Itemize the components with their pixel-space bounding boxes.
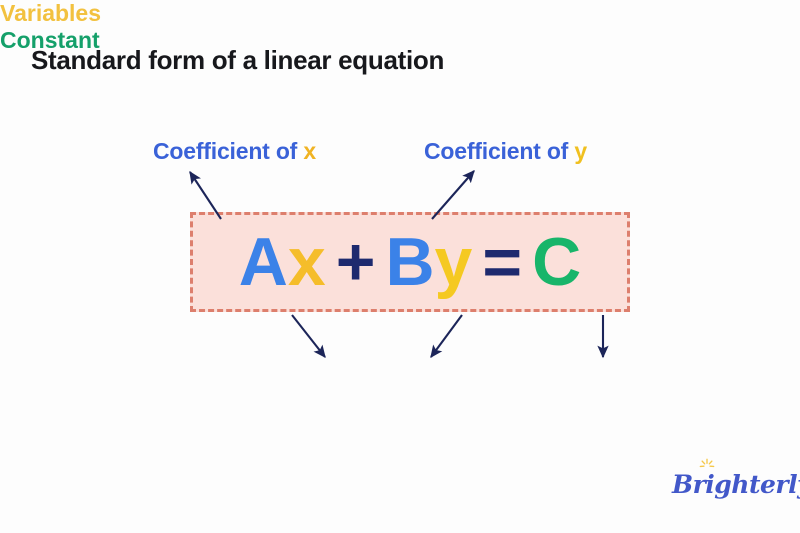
page-title: Standard form of a linear equation xyxy=(31,45,444,76)
equation-term-C: C xyxy=(532,228,581,296)
coefficient-of-y-label: Coefficient of y xyxy=(424,138,587,165)
equation-term-y: y xyxy=(435,228,473,296)
coefficient-of-x-prefix: Coefficient of xyxy=(153,138,297,164)
brighterly-logo: Brighterly xyxy=(672,458,784,506)
equation-term-A: A xyxy=(239,228,288,296)
equation-term-B: B xyxy=(385,228,434,296)
equation-expression: Ax+By=C xyxy=(239,228,581,296)
arrow-to-variables-from-x xyxy=(292,315,325,357)
coefficient-of-y-prefix: Coefficient of xyxy=(424,138,568,164)
equation-plus-operator: + xyxy=(326,228,386,296)
coefficient-of-x-variable: x xyxy=(303,138,316,164)
equation-term-x: x xyxy=(288,228,326,296)
diagram-canvas: Standard form of a linear equation Coeff… xyxy=(0,0,800,533)
equation-equals-operator: = xyxy=(472,228,532,296)
variables-label: Variables xyxy=(0,0,800,27)
coefficient-of-y-variable: y xyxy=(574,138,587,164)
equation-box: Ax+By=C xyxy=(190,212,630,312)
brighterly-wordmark: Brighterly xyxy=(672,470,800,499)
arrow-to-variables-from-y xyxy=(431,315,462,357)
coefficient-of-x-label: Coefficient of x xyxy=(153,138,316,165)
